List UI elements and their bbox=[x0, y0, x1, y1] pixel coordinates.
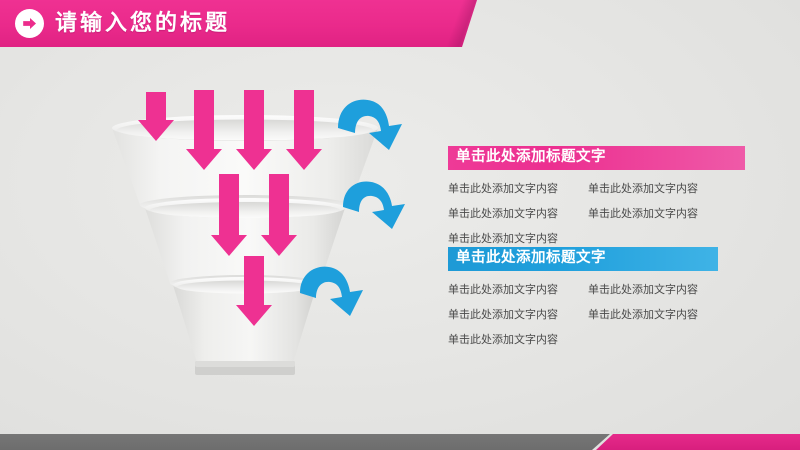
body-cell[interactable]: 单击此处添加文字内容 bbox=[588, 302, 728, 327]
inflow-arrow-4 bbox=[286, 90, 322, 170]
outflow-arrow-1 bbox=[336, 95, 408, 157]
outflow-arrow-2 bbox=[341, 177, 413, 235]
slide-canvas: 请输入您的标题 bbox=[0, 0, 800, 450]
block-title-blue[interactable]: 单击此处添加标题文字 bbox=[448, 247, 718, 271]
body-cell[interactable]: 单击此处添加文字内容 bbox=[448, 327, 748, 352]
outflow-arrow-3 bbox=[298, 262, 370, 322]
block-title-pink[interactable]: 单击此处添加标题文字 bbox=[448, 146, 745, 170]
inflow-arrow-1 bbox=[138, 92, 174, 141]
inflow-arrow-6 bbox=[261, 174, 297, 256]
body-cell[interactable]: 单击此处添加文字内容 bbox=[448, 302, 588, 327]
body-row: 单击此处添加文字内容 单击此处添加文字内容 bbox=[448, 302, 758, 327]
body-cell[interactable]: 单击此处添加文字内容 bbox=[448, 201, 588, 226]
arrow-right-circle-icon bbox=[15, 9, 44, 38]
inflow-arrow-3 bbox=[236, 90, 272, 170]
block-body-pink: 单击此处添加文字内容 单击此处添加文字内容 单击此处添加文字内容 单击此处添加文… bbox=[448, 176, 758, 251]
body-cell[interactable]: 单击此处添加文字内容 bbox=[448, 277, 588, 302]
body-row: 单击此处添加文字内容 单击此处添加文字内容 bbox=[448, 277, 758, 302]
block-body-blue: 单击此处添加文字内容 单击此处添加文字内容 单击此处添加文字内容 单击此处添加文… bbox=[448, 277, 758, 352]
body-cell[interactable]: 单击此处添加文字内容 bbox=[588, 201, 728, 226]
inflow-arrow-7 bbox=[236, 256, 272, 326]
body-row: 单击此处添加文字内容 单击此处添加文字内容 bbox=[448, 176, 758, 201]
body-row: 单击此处添加文字内容 单击此处添加文字内容 bbox=[448, 201, 758, 226]
body-cell[interactable]: 单击此处添加文字内容 bbox=[588, 277, 728, 302]
page-title: 请输入您的标题 bbox=[55, 8, 230, 40]
content-block-blue: 单击此处添加标题文字 单击此处添加文字内容 单击此处添加文字内容 单击此处添加文… bbox=[448, 247, 758, 352]
inflow-arrow-5 bbox=[211, 174, 247, 256]
content-block-pink: 单击此处添加标题文字 单击此处添加文字内容 单击此处添加文字内容 单击此处添加文… bbox=[448, 146, 758, 251]
footer-bar-gray bbox=[0, 434, 610, 450]
footer-bar-pink bbox=[596, 434, 800, 450]
body-cell[interactable]: 单击此处添加文字内容 bbox=[448, 176, 588, 201]
inflow-arrow-2 bbox=[186, 90, 222, 170]
body-row: 单击此处添加文字内容 bbox=[448, 327, 758, 352]
body-cell[interactable]: 单击此处添加文字内容 bbox=[588, 176, 728, 201]
